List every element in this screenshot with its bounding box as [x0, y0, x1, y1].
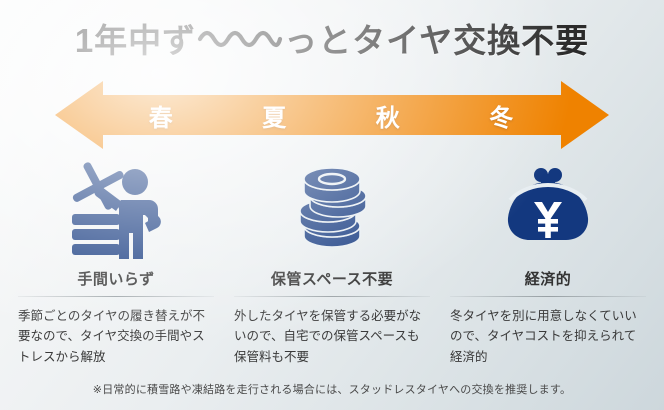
feature-column-maintenance-free: 手間いらず 季節ごとのタイヤの履き替えが不要なので、タイヤ交換の手間やストレスか…: [14, 158, 218, 367]
feature-divider: [450, 296, 646, 297]
feature-divider: [234, 296, 430, 297]
footnote: ※日常的に積雪路や凍結路を走行される場合には、スタッドレスタイヤへの交換を推奨し…: [0, 381, 664, 397]
feature-heading: 保管スペース不要: [271, 268, 393, 289]
feature-body: 季節ごとのタイヤの履き替えが不要なので、タイヤ交換の手間やストレスから解放: [18, 306, 214, 367]
feature-column-no-storage: 保管スペース不要 外したタイヤを保管する必要がないので、自宅での保管スペースも保…: [230, 158, 434, 367]
season-winter: 冬: [446, 98, 560, 133]
wavy-line-icon: [197, 21, 283, 56]
title-lead: 1年中ず: [75, 14, 196, 62]
season-summer: 夏: [219, 98, 333, 133]
tire-infographic: 1年中ずっとタイヤ交換不要 春 夏 秋 冬: [0, 0, 664, 410]
season-spring: 春: [105, 98, 219, 133]
season-autumn: 秋: [332, 98, 446, 133]
coin-purse-yen-icon: [496, 158, 600, 262]
feature-heading: 経済的: [525, 268, 572, 289]
feature-column-economical: 経済的 冬タイヤを別に用意しなくていいので、タイヤコストを抑えられて経済的: [446, 158, 650, 367]
season-arrow-banner: 春 夏 秋 冬: [55, 81, 609, 149]
feature-body: 外したタイヤを保管する必要がないので、自宅での保管スペースも保管料も不要: [234, 306, 430, 367]
title-tail: っとタイヤ交換不要: [284, 14, 589, 62]
page-title: 1年中ずっとタイヤ交換不要: [0, 14, 664, 62]
feature-columns: 手間いらず 季節ごとのタイヤの履き替えが不要なので、タイヤ交換の手間やストレスか…: [14, 158, 650, 367]
stacked-tires-icon: [280, 158, 384, 262]
feature-body: 冬タイヤを別に用意しなくていいので、タイヤコストを抑えられて経済的: [450, 306, 646, 367]
season-label-row: 春 夏 秋 冬: [105, 81, 559, 149]
feature-heading: 手間いらず: [77, 268, 154, 289]
mechanic-with-wrench-icon: [64, 158, 168, 262]
feature-divider: [18, 296, 214, 297]
